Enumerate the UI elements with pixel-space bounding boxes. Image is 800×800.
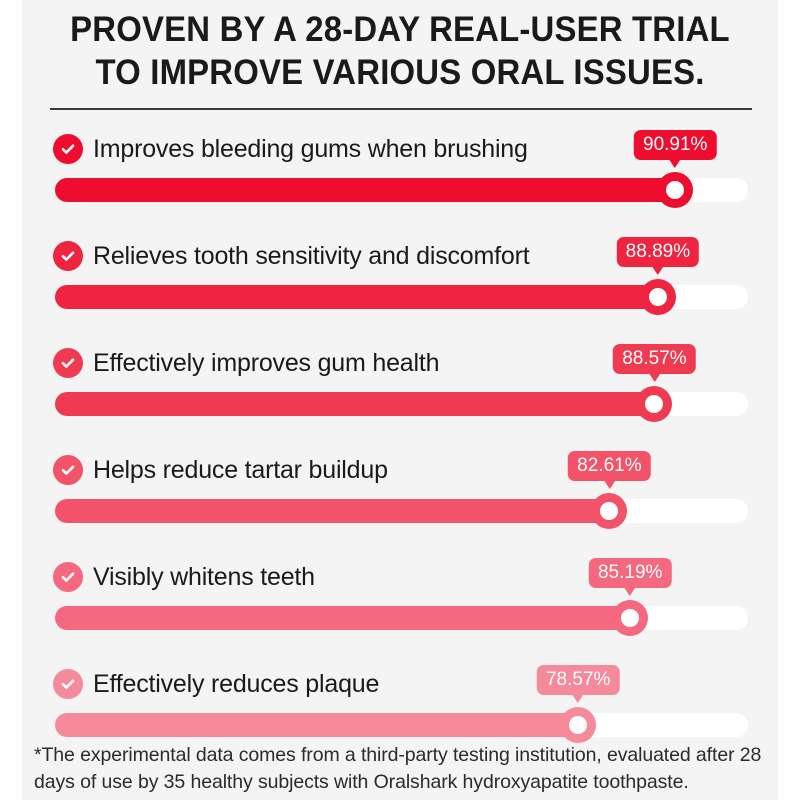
benefit-rows-list: Improves bleeding gums when brushing90.9… [0,126,800,768]
benefit-row-header: Improves bleeding gums when brushing [53,132,528,166]
progress-knob[interactable] [591,493,627,529]
percentage-badge: 88.89% [617,237,699,267]
progress-knob-center [649,288,667,306]
benefit-label: Visibly whitens teeth [93,562,315,592]
percentage-value: 82.61% [577,455,641,476]
progress-knob-center [600,502,618,520]
progress-track[interactable] [55,606,748,630]
percentage-value: 90.91% [643,134,707,155]
progress-knob-center [621,609,639,627]
progress-track[interactable] [55,178,748,202]
infographic-page: PROVEN BY A 28-DAY REAL-USER TRIAL TO IM… [0,0,800,800]
benefit-row-header: Visibly whitens teeth [53,560,315,594]
progress-knob[interactable] [612,600,648,636]
percentage-badge: 85.19% [589,558,671,588]
progress-track[interactable] [55,713,748,737]
percentage-value: 85.19% [598,562,662,583]
page-title: PROVEN BY A 28-DAY REAL-USER TRIAL TO IM… [22,8,778,94]
benefit-label: Effectively improves gum health [93,348,439,378]
progress-knob-center [666,181,684,199]
benefit-label: Effectively reduces plaque [93,669,379,699]
check-circle-icon [53,134,83,164]
progress-fill [55,713,578,737]
benefit-row: Visibly whitens teeth85.19% [0,554,800,661]
progress-fill [55,178,675,202]
percentage-value: 88.57% [622,348,686,369]
benefit-label: Improves bleeding gums when brushing [93,134,528,164]
benefit-row: Improves bleeding gums when brushing90.9… [0,126,800,233]
footnote-text: *The experimental data comes from a thir… [22,742,778,796]
title-divider [50,108,752,110]
benefit-row-header: Effectively improves gum health [53,346,439,380]
progress-track[interactable] [55,499,748,523]
check-circle-icon [53,241,83,271]
progress-knob[interactable] [636,386,672,422]
benefit-row-header: Relieves tooth sensitivity and discomfor… [53,239,529,273]
progress-knob-center [569,716,587,734]
progress-fill [55,606,630,630]
benefit-row: Relieves tooth sensitivity and discomfor… [0,233,800,340]
progress-track[interactable] [55,285,748,309]
percentage-value: 78.57% [546,669,610,690]
benefit-row: Helps reduce tartar buildup82.61% [0,447,800,554]
check-circle-icon [53,669,83,699]
percentage-badge: 82.61% [568,451,650,481]
benefit-row: Effectively improves gum health88.57% [0,340,800,447]
check-circle-icon [53,562,83,592]
percentage-badge: 90.91% [634,130,716,160]
percentage-badge: 78.57% [537,665,619,695]
progress-knob-center [645,395,663,413]
benefit-label: Helps reduce tartar buildup [93,455,388,485]
percentage-value: 88.89% [626,241,690,262]
progress-track[interactable] [55,392,748,416]
progress-fill [55,285,658,309]
title-line-2: TO IMPROVE VARIOUS ORAL ISSUES. [45,51,756,94]
title-line-1: PROVEN BY A 28-DAY REAL-USER TRIAL [45,8,756,51]
benefit-label: Relieves tooth sensitivity and discomfor… [93,241,529,271]
check-circle-icon [53,455,83,485]
progress-fill [55,499,609,523]
progress-knob[interactable] [640,279,676,315]
benefit-row-header: Effectively reduces plaque [53,667,379,701]
benefit-row-header: Helps reduce tartar buildup [53,453,388,487]
progress-fill [55,392,654,416]
progress-knob[interactable] [657,172,693,208]
progress-knob[interactable] [560,707,596,743]
percentage-badge: 88.57% [613,344,695,374]
check-circle-icon [53,348,83,378]
